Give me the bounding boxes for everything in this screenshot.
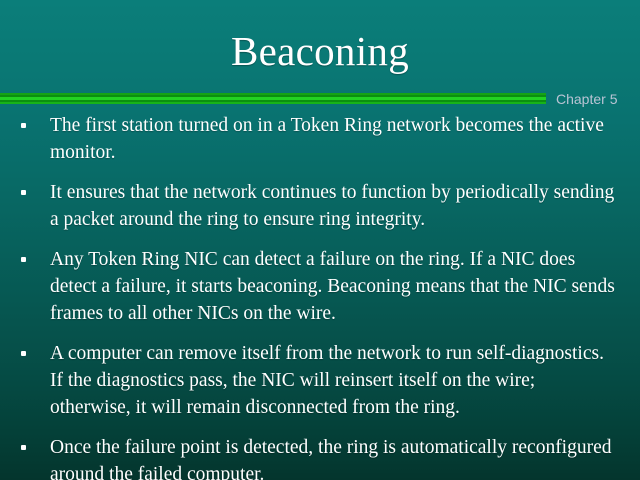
list-item: A computer can remove itself from the ne… — [0, 340, 640, 421]
presentation-slide: Beaconing Chapter 5 The first station tu… — [0, 0, 640, 480]
list-item-text: Once the failure point is detected, the … — [50, 434, 618, 480]
list-item: Any Token Ring NIC can detect a failure … — [0, 246, 640, 327]
square-bullet-icon — [21, 123, 26, 128]
list-item-text: The first station turned on in a Token R… — [50, 112, 618, 166]
chapter-label: Chapter 5 — [556, 91, 617, 108]
square-bullet-icon — [21, 257, 26, 262]
square-bullet-icon — [21, 445, 26, 450]
divider-band-5 — [0, 102, 546, 104]
slide-title-area: Beaconing — [0, 28, 640, 74]
list-item: Once the failure point is detected, the … — [0, 434, 640, 480]
square-bullet-icon — [21, 190, 26, 195]
list-item-text: A computer can remove itself from the ne… — [50, 340, 618, 421]
page-title: Beaconing — [0, 28, 640, 74]
header-divider-rule — [0, 93, 546, 105]
list-item: It ensures that the network continues to… — [0, 179, 640, 233]
list-item: The first station turned on in a Token R… — [0, 112, 640, 166]
square-bullet-icon — [21, 351, 26, 356]
list-item-text: It ensures that the network continues to… — [50, 179, 618, 233]
list-item-text: Any Token Ring NIC can detect a failure … — [50, 246, 618, 327]
bullet-list: The first station turned on in a Token R… — [0, 112, 640, 480]
